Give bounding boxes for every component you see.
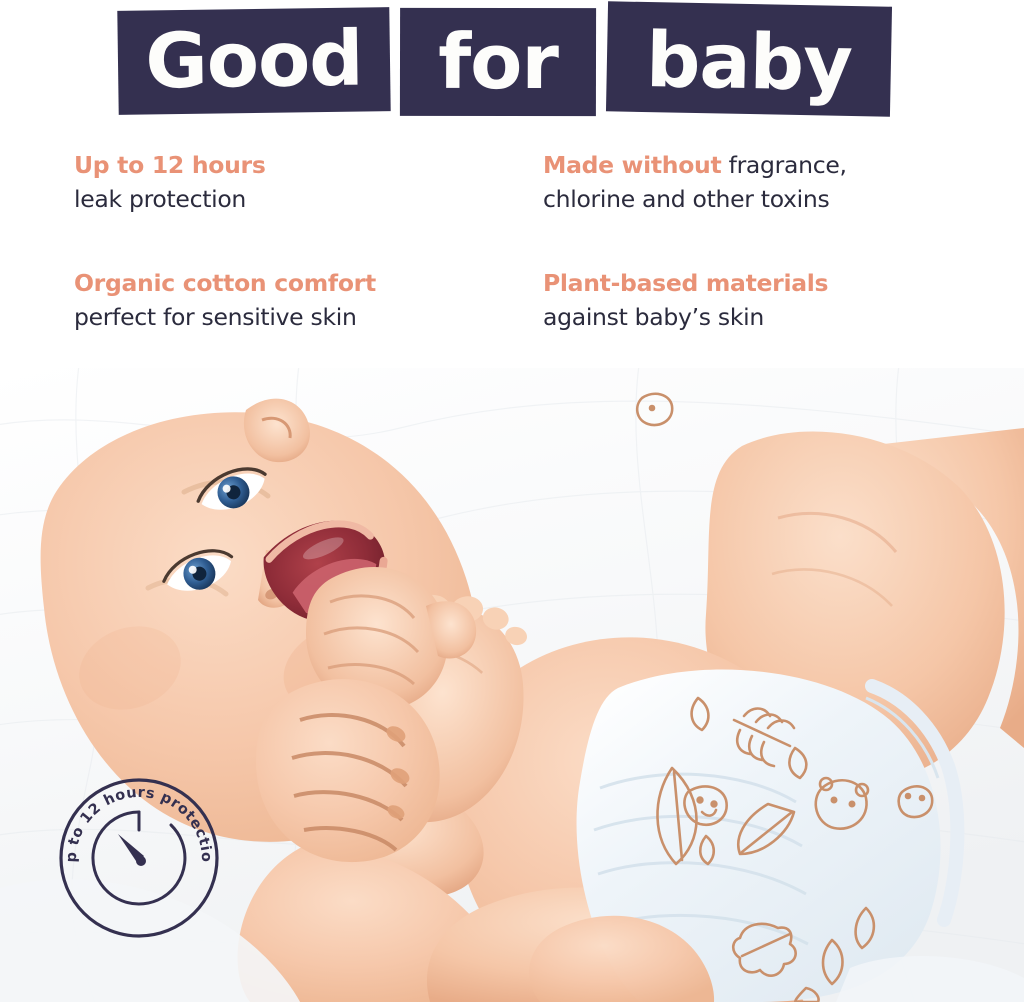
feature-strong-text: Plant-based materials: [543, 269, 828, 297]
headline-word-good: Good: [145, 20, 363, 99]
feature-headline: Up to 12 hours: [74, 148, 474, 182]
headline-word-for: for: [438, 24, 558, 100]
badge-clock-center: [136, 856, 146, 866]
feature-strong-text: Made without: [543, 151, 721, 179]
feature-item-leak-protection: Up to 12 hours leak protection: [74, 148, 474, 216]
feature-subtext: chlorine and other toxins: [543, 182, 933, 216]
feature-subtext: perfect for sensitive skin: [74, 300, 474, 334]
feature-strong-text: Up to 12 hours: [74, 151, 266, 179]
feature-rest-text: fragrance,: [721, 151, 846, 179]
headline-block-for: for: [400, 8, 596, 116]
feature-item-made-without: Made without fragrance, chlorine and oth…: [543, 148, 933, 216]
feature-item-organic-cotton: Organic cotton comfort perfect for sensi…: [74, 266, 474, 334]
feature-strong-text: Organic cotton comfort: [74, 269, 376, 297]
feature-headline: Organic cotton comfort: [74, 266, 474, 300]
headline-block-good: Good: [117, 7, 390, 115]
headline-banner: Good for baby: [0, 0, 1024, 130]
promo-page: Good for baby Up to 12 hours leak protec…: [0, 0, 1024, 1002]
protection-badge: up to 12 hours protection: [56, 778, 222, 938]
feature-headline: Plant-based materials: [543, 266, 933, 300]
feature-item-plant-based: Plant-based materials against baby’s ski…: [543, 266, 933, 334]
feature-subtext: against baby’s skin: [543, 300, 933, 334]
headline-word-baby: baby: [645, 22, 852, 102]
headline-block-baby: baby: [606, 1, 892, 116]
feature-subtext: leak protection: [74, 182, 474, 216]
feature-list: Up to 12 hours leak protection Made with…: [0, 148, 1024, 348]
feature-headline: Made without fragrance,: [543, 148, 933, 182]
